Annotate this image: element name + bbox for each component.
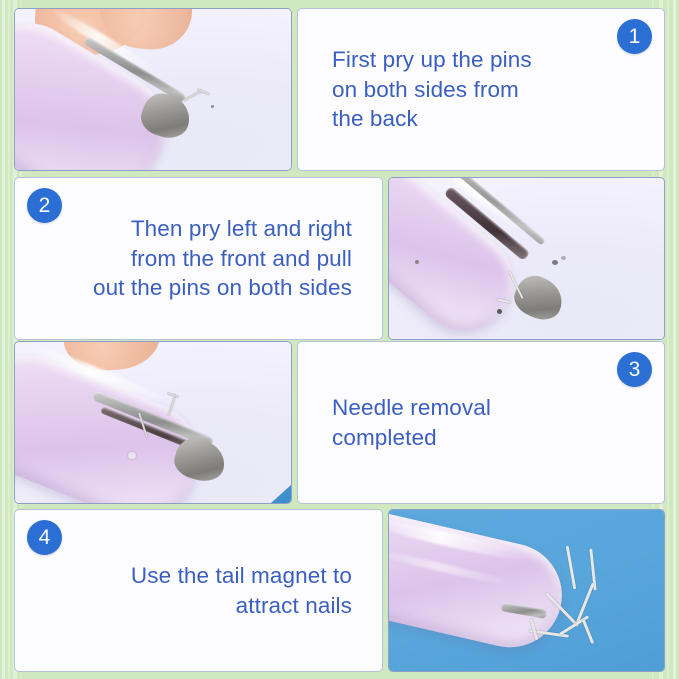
step-1-text-panel: 1 First pry up the pins on both sides fr… — [297, 8, 665, 171]
step-2-photo — [388, 177, 665, 340]
photo-canvas-2 — [389, 178, 664, 339]
step-badge-4: 4 — [27, 520, 62, 555]
photo-corner-artifact — [271, 485, 291, 503]
caption-line: the back — [332, 104, 648, 134]
photo-canvas-3 — [15, 342, 291, 503]
steps-list: 1 First pry up the pins on both sides fr… — [0, 0, 679, 679]
caption-line: Use the tail magnet to — [33, 561, 352, 591]
step-4-text-panel: 4 Use the tail magnet to attract nails — [14, 509, 383, 672]
step-4-caption: Use the tail magnet to attract nails — [15, 561, 382, 620]
step-badge-3: 3 — [617, 352, 652, 387]
step-row-1: 1 First pry up the pins on both sides fr… — [14, 8, 665, 171]
step-4-photo — [388, 509, 665, 672]
step-2-caption: Then pry left and right from the front a… — [15, 214, 382, 303]
step-1-photo — [14, 8, 292, 171]
caption-line: Then pry left and right — [33, 214, 352, 244]
step-row-2: 2 Then pry left and right from the front… — [14, 177, 665, 340]
photo-canvas-1 — [15, 9, 291, 170]
step-row-3: 3 Needle removal completed — [14, 341, 665, 504]
step-3-text-panel: 3 Needle removal completed — [297, 341, 665, 504]
step-1-caption: First pry up the pins on both sides from… — [298, 45, 664, 134]
step-3-photo — [14, 341, 292, 504]
caption-line: attract nails — [33, 591, 352, 621]
caption-line: completed — [332, 423, 648, 453]
caption-line: from the front and pull — [33, 244, 352, 274]
step-2-text-panel: 2 Then pry left and right from the front… — [14, 177, 383, 340]
step-3-caption: Needle removal completed — [298, 393, 664, 452]
step-row-4: 4 Use the tail magnet to attract nails — [14, 509, 665, 672]
photo-canvas-4 — [389, 510, 664, 671]
caption-line: Needle removal — [332, 393, 648, 423]
caption-line: out the pins on both sides — [33, 273, 352, 303]
caption-line: First pry up the pins — [332, 45, 648, 75]
caption-line: on both sides from — [332, 75, 648, 105]
instruction-infographic: 1 First pry up the pins on both sides fr… — [0, 0, 679, 679]
step-badge-2: 2 — [27, 188, 62, 223]
step-badge-1: 1 — [617, 19, 652, 54]
